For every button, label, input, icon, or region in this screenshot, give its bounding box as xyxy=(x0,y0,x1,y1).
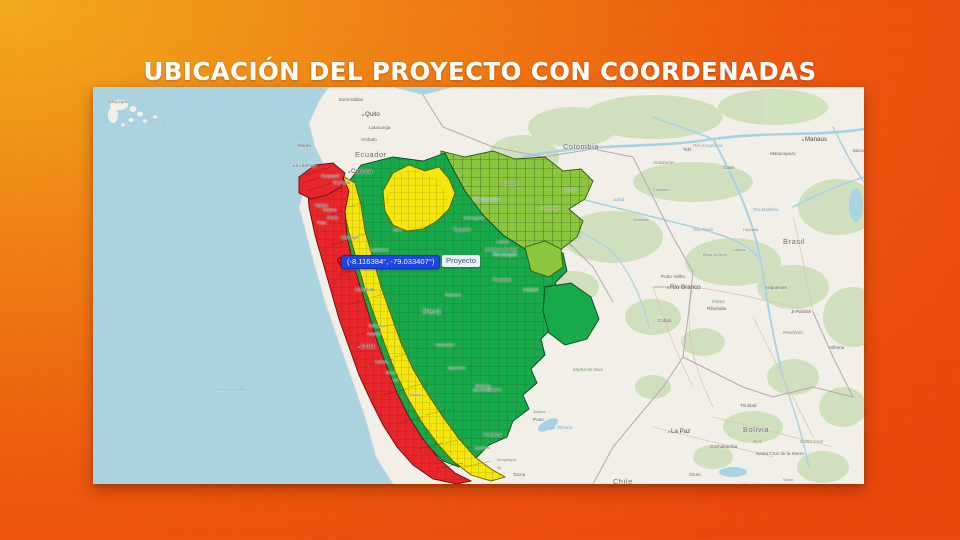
page-title: UBICACIÓN DEL PROYECTO CON COORDENADAS xyxy=(0,57,960,86)
city-dot xyxy=(668,431,670,433)
city-dot xyxy=(348,171,350,173)
map-panel[interactable]: GalápagosQuitoLatacungaAmbatoEcuadorCuen… xyxy=(93,87,864,484)
city-dot xyxy=(358,346,360,348)
project-label-chip[interactable]: Proyecto xyxy=(442,255,480,267)
peru-district-choropleth xyxy=(93,87,864,484)
city-dot xyxy=(802,139,804,141)
city-dot xyxy=(667,287,669,289)
city-dot xyxy=(362,114,364,116)
coordinates-label[interactable]: (-8.116384°, -79.033407°) xyxy=(341,255,440,269)
